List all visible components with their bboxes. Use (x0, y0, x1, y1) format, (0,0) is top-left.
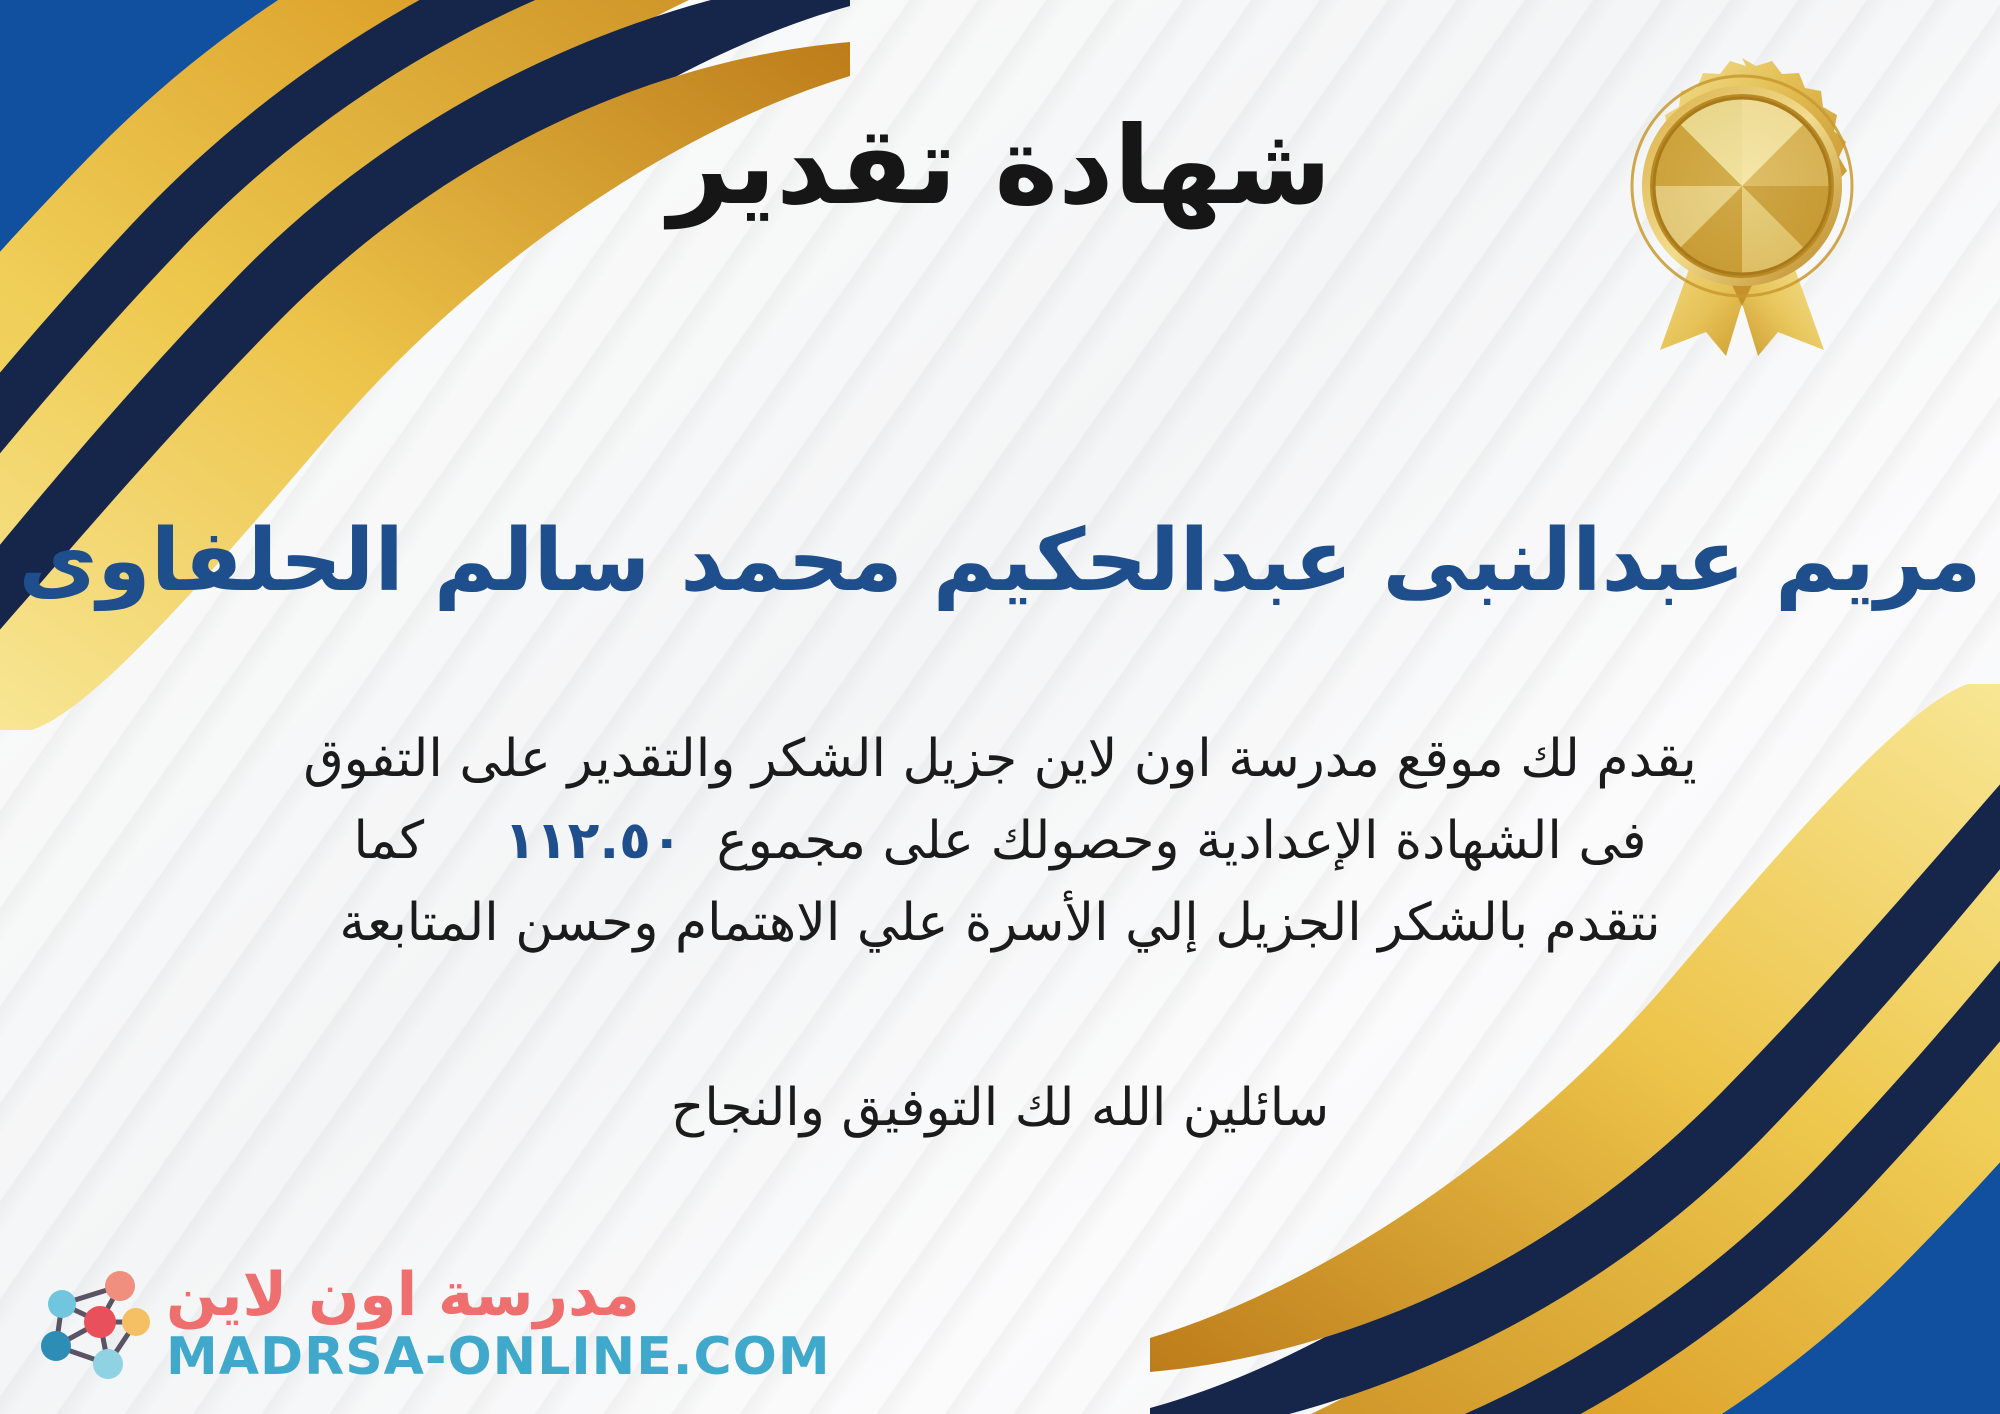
certificate-canvas: شهادة تقدير مريم عبدالنبى عبدالحكيم محمد… (0, 0, 2000, 1414)
total-score-value: ١١٢.٥٠ (470, 811, 716, 871)
certificate-content: شهادة تقدير مريم عبدالنبى عبدالحكيم محمد… (0, 0, 2000, 1414)
body-line-2-prefix: فى الشهادة الإعدادية وحصولك على مجموع (717, 811, 1647, 871)
closing-wish: سائلين الله لك التوفيق والنجاح (0, 1078, 2000, 1138)
network-nodes-icon (24, 1260, 152, 1388)
certificate-title: شهادة تقدير (0, 108, 2000, 227)
brand-text: مدرسة اون لاين MADRSA-ONLINE.COM (166, 1265, 831, 1383)
brand-website: MADRSA-ONLINE.COM (166, 1331, 831, 1383)
student-name: مريم عبدالنبى عبدالحكيم محمد سالم الحلفا… (0, 512, 2000, 611)
body-line-3: نتقدم بالشكر الجزيل إلي الأسرة علي الاهت… (150, 882, 1850, 964)
brand-logo[interactable]: مدرسة اون لاين MADRSA-ONLINE.COM (24, 1260, 831, 1388)
brand-arabic-name: مدرسة اون لاين (166, 1265, 640, 1325)
certificate-body: يقدم لك موقع مدرسة اون لاين جزيل الشكر و… (150, 718, 1850, 964)
body-line-1: يقدم لك موقع مدرسة اون لاين جزيل الشكر و… (150, 718, 1850, 800)
body-line-2: فى الشهادة الإعدادية وحصولك على مجموع١١٢… (150, 800, 1850, 882)
body-line-2-suffix: كما (353, 811, 424, 871)
